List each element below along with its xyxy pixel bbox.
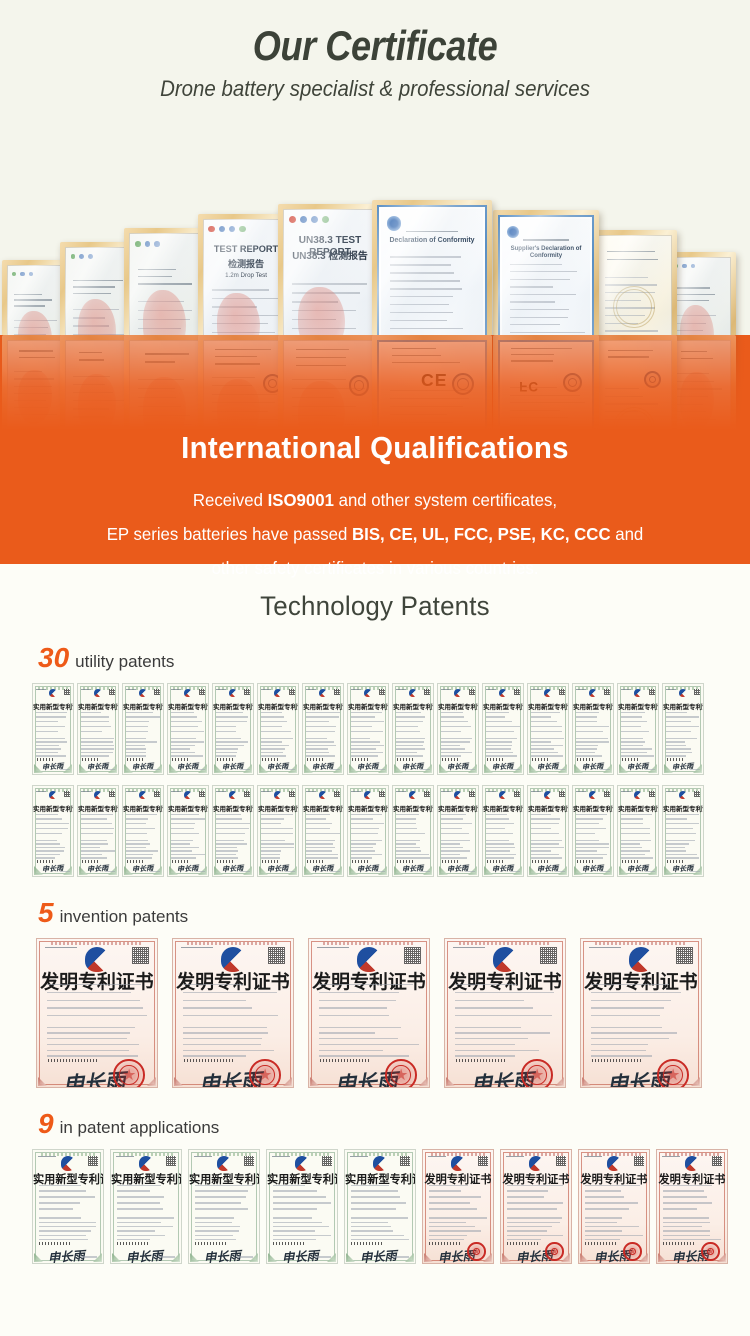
signature: 申长雨 xyxy=(536,761,558,772)
barcode-icon xyxy=(487,758,505,761)
patent-count-number: 5 xyxy=(38,899,54,927)
patent-certificate-title: 实用新型专利证书 xyxy=(438,701,478,711)
national-seal-icon xyxy=(545,1242,564,1261)
qr-code-icon xyxy=(514,689,520,695)
qr-code-icon xyxy=(322,1156,332,1166)
certificate-document: Supplier's Declaration of ConformityFC xyxy=(498,215,594,335)
patent-certificate: 实用新型专利证书申长雨 xyxy=(110,1149,182,1264)
patent-certificate-title: 实用新型专利证书 xyxy=(168,701,208,711)
accreditation-logos-icon xyxy=(208,226,246,232)
signature: 申长雨 xyxy=(126,1246,164,1264)
patent-certificate-title: 发明专利证书 xyxy=(445,967,565,994)
national-seal-icon xyxy=(113,1059,145,1088)
signature: 申长雨 xyxy=(536,863,558,874)
signature: 申长雨 xyxy=(581,761,603,772)
patent-certificate-title: 发明专利证书 xyxy=(581,967,701,994)
barcode-icon xyxy=(37,758,55,761)
signature: 申长雨 xyxy=(581,863,603,874)
qr-code-icon xyxy=(109,689,115,695)
patent-certificate: 实用新型专利证书申长雨 xyxy=(257,683,299,775)
qr-code-icon xyxy=(289,689,295,695)
qr-code-icon xyxy=(154,791,160,797)
patent-count-row-utility-patents: 30utility patents xyxy=(0,644,750,672)
qualifications-line-1: Received ISO9001 and other system certif… xyxy=(15,483,735,517)
barcode-icon xyxy=(585,1242,615,1245)
patent-count-row-patent-applications: 9in patent applications xyxy=(0,1110,750,1138)
barcode-icon xyxy=(352,758,370,761)
barcode-icon xyxy=(352,860,370,863)
patent-certificate-title: 发明专利证书 xyxy=(309,967,429,994)
qr-code-icon xyxy=(424,791,430,797)
barcode-icon xyxy=(622,860,640,863)
page-title: Our Certificate xyxy=(53,0,698,70)
patent-certificate-title: 实用新型专利证书 xyxy=(258,701,298,711)
barcode-icon xyxy=(487,860,505,863)
signature: 申长雨 xyxy=(86,863,108,874)
patent-certificate-title: 实用新型专利证书 xyxy=(663,803,703,813)
red-watermark xyxy=(298,287,345,335)
red-watermark xyxy=(143,290,186,335)
patent-certificate: 实用新型专利证书申长雨 xyxy=(662,785,704,877)
qr-code-icon xyxy=(244,1156,254,1166)
accreditation-logos-icon xyxy=(135,241,159,246)
signature: 申长雨 xyxy=(626,863,648,874)
patent-certificate: 实用新型专利证书申长雨 xyxy=(344,1149,416,1264)
qr-code-icon xyxy=(400,1156,410,1166)
barcode-icon xyxy=(507,1242,537,1245)
patent-application-grid: 实用新型专利证书申长雨实用新型专利证书申长雨实用新型专利证书申长雨实用新型专利证… xyxy=(0,1149,750,1264)
qr-code-icon xyxy=(64,689,70,695)
patent-certificate: 实用新型专利证书申长雨 xyxy=(617,683,659,775)
barcode-icon xyxy=(82,860,100,863)
signature: 申长雨 xyxy=(176,761,198,772)
issuer-logo-icon xyxy=(387,216,401,230)
signature: 申长雨 xyxy=(671,863,693,874)
patent-certificate-title: 实用新型专利证书 xyxy=(618,803,658,813)
patent-certificate: 发明专利证书申长雨 xyxy=(422,1149,494,1264)
barcode-icon xyxy=(195,1242,225,1245)
signature: 申长雨 xyxy=(41,761,63,772)
patent-certificate: 实用新型专利证书申长雨 xyxy=(437,785,479,877)
patent-certificate: 实用新型专利证书申长雨 xyxy=(257,785,299,877)
patent-certificate: 实用新型专利证书申长雨 xyxy=(437,683,479,775)
accreditation-logos-icon xyxy=(12,272,33,276)
qr-code-icon xyxy=(604,791,610,797)
red-watermark xyxy=(680,305,714,335)
barcode-icon xyxy=(397,758,415,761)
signature: 申长雨 xyxy=(221,863,243,874)
patent-certificate-title: 实用新型专利证书 xyxy=(213,803,253,813)
barcode-icon xyxy=(172,758,190,761)
qr-code-icon xyxy=(694,689,700,695)
qr-code-icon xyxy=(469,791,475,797)
patent-certificate-title: 实用新型专利证书 xyxy=(618,701,658,711)
patent-certificate-title: 实用新型专利证书 xyxy=(78,803,118,813)
signature: 申长雨 xyxy=(282,1246,320,1264)
patent-certificate-title: 实用新型专利证书 xyxy=(258,803,298,813)
patent-certificate: 发明专利证书申长雨 xyxy=(172,938,294,1088)
barcode-icon xyxy=(307,758,325,761)
signature: 申长雨 xyxy=(360,1246,398,1264)
national-seal-icon xyxy=(249,1059,281,1088)
patent-certificate: 实用新型专利证书申长雨 xyxy=(167,683,209,775)
utility-patent-grid-row: 实用新型专利证书申长雨实用新型专利证书申长雨实用新型专利证书申长雨实用新型专利证… xyxy=(0,785,750,877)
certificate-fan-gallery: TEST REPORT检测报告1.2m Drop TestUN38.3 TEST… xyxy=(0,140,750,335)
qr-code-icon xyxy=(199,791,205,797)
barcode-icon xyxy=(127,758,145,761)
patent-certificate: 实用新型专利证书申长雨 xyxy=(572,785,614,877)
barcode-icon xyxy=(127,860,145,863)
barcode-icon xyxy=(442,758,460,761)
patent-certificate-title: 实用新型专利证书 xyxy=(393,803,433,813)
cnipa-logo-icon xyxy=(529,1156,543,1170)
signature: 申长雨 xyxy=(311,761,333,772)
page-subtitle: Drone battery specialist & professional … xyxy=(26,76,724,102)
signature: 申长雨 xyxy=(446,863,468,874)
cnipa-logo-icon xyxy=(451,1156,465,1170)
patent-certificate-title: 实用新型专利证书 xyxy=(528,701,568,711)
barcode-icon xyxy=(456,1059,507,1062)
invention-patent-grid: 发明专利证书申长雨发明专利证书申长雨发明专利证书申长雨发明专利证书申长雨发明专利… xyxy=(0,938,750,1088)
patent-certificate-title: 实用新型专利证书 xyxy=(78,701,118,711)
patent-certificate: 实用新型专利证书申长雨 xyxy=(122,785,164,877)
qr-code-icon xyxy=(166,1156,176,1166)
national-seal-icon xyxy=(385,1059,417,1088)
certificate-title-cn: 检测报告 xyxy=(210,259,282,269)
patent-count-label: invention patents xyxy=(60,907,189,927)
national-seal-icon xyxy=(467,1242,486,1261)
qualifications-content: International Qualifications Received IS… xyxy=(0,430,750,585)
patent-certificate-title: 实用新型专利证书 xyxy=(663,701,703,711)
patent-certificate: 实用新型专利证书申长雨 xyxy=(482,683,524,775)
patent-groups: 30utility patents实用新型专利证书申长雨实用新型专利证书申长雨实… xyxy=(0,644,750,1264)
patent-certificate-title: 实用新型专利证书 xyxy=(303,803,343,813)
barcode-icon xyxy=(622,758,640,761)
red-watermark xyxy=(18,311,52,336)
patent-certificate: 实用新型专利证书申长雨 xyxy=(212,683,254,775)
patent-certificate: 实用新型专利证书申长雨 xyxy=(662,683,704,775)
barcode-icon xyxy=(577,758,595,761)
qr-code-icon xyxy=(88,1156,98,1166)
signature: 申长雨 xyxy=(41,863,63,874)
red-watermark xyxy=(217,293,260,335)
patent-certificate-title: 实用新型专利证书 xyxy=(33,701,73,711)
patent-certificate: 实用新型专利证书申长雨 xyxy=(572,683,614,775)
patent-certificate-title: 实用新型专利证书 xyxy=(303,701,343,711)
patent-certificate: 实用新型专利证书申长雨 xyxy=(167,785,209,877)
national-seal-icon xyxy=(657,1059,689,1088)
patent-certificate-title: 实用新型专利证书 xyxy=(348,803,388,813)
patent-certificate-title: 发明专利证书 xyxy=(173,967,293,994)
signature: 申长雨 xyxy=(401,761,423,772)
patent-certificate: 发明专利证书申长雨 xyxy=(444,938,566,1088)
qualifications-line-2: EP series batteries have passed BIS, CE,… xyxy=(15,517,735,551)
barcode-icon xyxy=(442,860,460,863)
patent-certificate: 发明专利证书申长雨 xyxy=(500,1149,572,1264)
signature: 申长雨 xyxy=(131,761,153,772)
qr-code-icon xyxy=(64,791,70,797)
qr-code-icon xyxy=(244,791,250,797)
barcode-icon xyxy=(172,860,190,863)
accreditation-logos-icon xyxy=(289,216,329,223)
signature: 申长雨 xyxy=(176,863,198,874)
cnipa-logo-icon xyxy=(685,1156,699,1170)
patent-certificate-title: 实用新型专利证书 xyxy=(348,701,388,711)
barcode-icon xyxy=(273,1242,303,1245)
patent-certificate: 实用新型专利证书申长雨 xyxy=(188,1149,260,1264)
qr-code-icon xyxy=(478,1156,488,1166)
certificate-subtitle: 1.2m Drop Test xyxy=(210,272,282,279)
barcode-icon xyxy=(117,1242,147,1245)
patent-certificate: 实用新型专利证书申长雨 xyxy=(32,1149,104,1264)
qr-code-icon xyxy=(604,689,610,695)
qr-code-icon xyxy=(154,689,160,695)
patent-certificate-title: 实用新型专利证书 xyxy=(123,701,163,711)
signature: 申长雨 xyxy=(204,1246,242,1264)
national-seal-icon xyxy=(701,1242,720,1261)
qr-code-icon xyxy=(712,1156,722,1166)
patent-certificate-title: 实用新型专利证书 xyxy=(573,701,613,711)
qr-code-icon xyxy=(334,791,340,797)
certificate-document: Declaration of ConformityCE xyxy=(377,205,487,335)
signature: 申长雨 xyxy=(48,1246,86,1264)
barcode-icon xyxy=(592,1059,643,1062)
qr-code-icon xyxy=(469,689,475,695)
patent-certificate: 实用新型专利证书申长雨 xyxy=(302,683,344,775)
qr-code-icon xyxy=(109,791,115,797)
accreditation-logos-icon xyxy=(71,254,94,259)
patent-certificate-title: 实用新型专利证书 xyxy=(33,803,73,813)
patent-certificate: 发明专利证书申长雨 xyxy=(578,1149,650,1264)
patent-certificate: 实用新型专利证书申长雨 xyxy=(482,785,524,877)
patent-certificate: 实用新型专利证书申长雨 xyxy=(392,683,434,775)
qr-code-icon xyxy=(379,791,385,797)
certificate-frame xyxy=(591,230,677,335)
certificate-document xyxy=(669,257,731,335)
certificate-frame: Declaration of ConformityCE xyxy=(372,200,492,335)
qr-code-icon xyxy=(556,1156,566,1166)
qr-code-icon xyxy=(649,689,655,695)
certificate-document: UN38.3 TEST REPORTUN38.3 检测报告 xyxy=(283,209,377,335)
utility-patent-grid-row: 实用新型专利证书申长雨实用新型专利证书申长雨实用新型专利证书申长雨实用新型专利证… xyxy=(0,683,750,775)
patent-count-label: in patent applications xyxy=(60,1118,220,1138)
qr-code-icon xyxy=(404,947,421,964)
barcode-icon xyxy=(532,758,550,761)
header-section: Our Certificate Drone battery specialist… xyxy=(0,0,750,335)
patent-certificate-title: 实用新型专利证书 xyxy=(393,701,433,711)
qr-code-icon xyxy=(559,791,565,797)
patent-certificate: 实用新型专利证书申长雨 xyxy=(32,683,74,775)
accreditation-logos-icon xyxy=(674,264,695,268)
certificate-frame: UN38.3 TEST REPORTUN38.3 检测报告 xyxy=(278,204,382,335)
certificate-document: TEST REPORT检测报告1.2m Drop Test xyxy=(203,219,289,335)
barcode-icon xyxy=(667,758,685,761)
certificate-frame: Supplier's Declaration of ConformityFC xyxy=(493,210,599,335)
signature: 申长雨 xyxy=(221,761,243,772)
patent-certificate: 实用新型专利证书申长雨 xyxy=(347,683,389,775)
guilloche-watermark xyxy=(613,286,655,328)
patent-certificate: 实用新型专利证书申长雨 xyxy=(347,785,389,877)
patent-count-number: 30 xyxy=(38,644,69,672)
barcode-icon xyxy=(262,860,280,863)
qr-code-icon xyxy=(676,947,693,964)
qr-code-icon xyxy=(694,791,700,797)
signature: 申长雨 xyxy=(266,761,288,772)
barcode-icon xyxy=(82,758,100,761)
certificate-title: Supplier's Declaration of Conformity xyxy=(506,246,587,260)
patent-certificate: 实用新型专利证书申长雨 xyxy=(122,683,164,775)
signature: 申长雨 xyxy=(356,761,378,772)
patent-certificate: 发明专利证书申长雨 xyxy=(308,938,430,1088)
barcode-icon xyxy=(351,1242,381,1245)
qr-code-icon xyxy=(424,689,430,695)
qr-code-icon xyxy=(559,689,565,695)
patent-certificate: 实用新型专利证书申长雨 xyxy=(212,785,254,877)
signature: 申长雨 xyxy=(86,761,108,772)
signature: 申长雨 xyxy=(491,863,513,874)
qr-code-icon xyxy=(268,947,285,964)
patent-certificate: 实用新型专利证书申长雨 xyxy=(77,683,119,775)
patent-certificate-title: 实用新型专利证书 xyxy=(528,803,568,813)
cnipa-logo-icon xyxy=(373,1156,387,1170)
qr-code-icon xyxy=(289,791,295,797)
barcode-icon xyxy=(184,1059,235,1062)
patent-certificate: 实用新型专利证书申长雨 xyxy=(527,683,569,775)
patent-certificate: 发明专利证书申长雨 xyxy=(580,938,702,1088)
patent-certificate-title: 实用新型专利证书 xyxy=(438,803,478,813)
signature: 申长雨 xyxy=(131,863,153,874)
qr-code-icon xyxy=(514,791,520,797)
patent-certificate: 实用新型专利证书申长雨 xyxy=(266,1149,338,1264)
cnipa-logo-icon xyxy=(61,1156,75,1170)
signature: 申长雨 xyxy=(401,863,423,874)
barcode-icon xyxy=(429,1242,459,1245)
barcode-icon xyxy=(320,1059,371,1062)
patent-certificate: 实用新型专利证书申长雨 xyxy=(77,785,119,877)
qualifications-line-3: other safety certificates in various cou… xyxy=(15,551,735,585)
patents-section: Technology Patents 30utility patents实用新型… xyxy=(0,564,750,1264)
barcode-icon xyxy=(397,860,415,863)
barcode-icon xyxy=(667,860,685,863)
signature: 申长雨 xyxy=(266,863,288,874)
qr-code-icon xyxy=(379,689,385,695)
certificate-title: TEST REPORT xyxy=(210,244,282,255)
barcode-icon xyxy=(262,758,280,761)
national-seal-icon xyxy=(623,1242,642,1261)
patent-certificate-title: 实用新型专利证书 xyxy=(573,803,613,813)
patent-certificate-title: 实用新型专利证书 xyxy=(213,701,253,711)
patent-count-row-invention-patents: 5invention patents xyxy=(0,899,750,927)
qr-code-icon xyxy=(649,791,655,797)
signature: 申长雨 xyxy=(446,761,468,772)
cnipa-logo-icon xyxy=(139,1156,153,1170)
barcode-icon xyxy=(307,860,325,863)
certificate-document xyxy=(129,233,207,335)
signature: 申长雨 xyxy=(671,761,693,772)
patent-certificate: 实用新型专利证书申长雨 xyxy=(302,785,344,877)
issuer-logo-icon xyxy=(507,226,519,238)
qualifications-text: Received ISO9001 and other system certif… xyxy=(0,483,750,585)
red-watermark xyxy=(78,299,117,335)
signature: 申长雨 xyxy=(311,863,333,874)
barcode-icon xyxy=(217,758,235,761)
qr-code-icon xyxy=(334,689,340,695)
patent-certificate-title: 实用新型专利证书 xyxy=(123,803,163,813)
cnipa-logo-icon xyxy=(607,1156,621,1170)
signature: 申长雨 xyxy=(626,761,648,772)
national-seal-icon xyxy=(521,1059,553,1088)
patent-certificate: 实用新型专利证书申长雨 xyxy=(617,785,659,877)
patent-certificate-title: 实用新型专利证书 xyxy=(483,803,523,813)
qr-code-icon xyxy=(199,689,205,695)
qr-code-icon xyxy=(634,1156,644,1166)
barcode-icon xyxy=(663,1242,693,1245)
patent-certificate-title: 实用新型专利证书 xyxy=(483,701,523,711)
patent-certificate: 实用新型专利证书申长雨 xyxy=(32,785,74,877)
signature: 申长雨 xyxy=(491,761,513,772)
patent-certificate: 实用新型专利证书申长雨 xyxy=(527,785,569,877)
patent-certificate: 发明专利证书申长雨 xyxy=(656,1149,728,1264)
barcode-icon xyxy=(532,860,550,863)
qr-code-icon xyxy=(540,947,557,964)
patent-certificate-title: 实用新型专利证书 xyxy=(168,803,208,813)
patent-certificate: 实用新型专利证书申长雨 xyxy=(392,785,434,877)
qr-code-icon xyxy=(132,947,149,964)
certificate-title-cn: UN38.3 检测报告 xyxy=(291,251,370,262)
signature: 申长雨 xyxy=(356,863,378,874)
barcode-icon xyxy=(39,1242,69,1245)
cnipa-logo-icon xyxy=(217,1156,231,1170)
patent-certificate-title: 发明专利证书 xyxy=(37,967,157,994)
qr-code-icon xyxy=(244,689,250,695)
patent-certificate: 发明专利证书申长雨 xyxy=(36,938,158,1088)
patent-count-number: 9 xyxy=(38,1110,54,1138)
barcode-icon xyxy=(217,860,235,863)
certificate-title: Declaration of Conformity xyxy=(386,237,478,245)
cnipa-logo-icon xyxy=(295,1156,309,1170)
barcode-icon xyxy=(48,1059,99,1062)
qualifications-heading: International Qualifications xyxy=(19,430,732,466)
patent-count-label: utility patents xyxy=(75,652,174,672)
barcode-icon xyxy=(37,860,55,863)
barcode-icon xyxy=(577,860,595,863)
certificate-document xyxy=(596,235,672,335)
